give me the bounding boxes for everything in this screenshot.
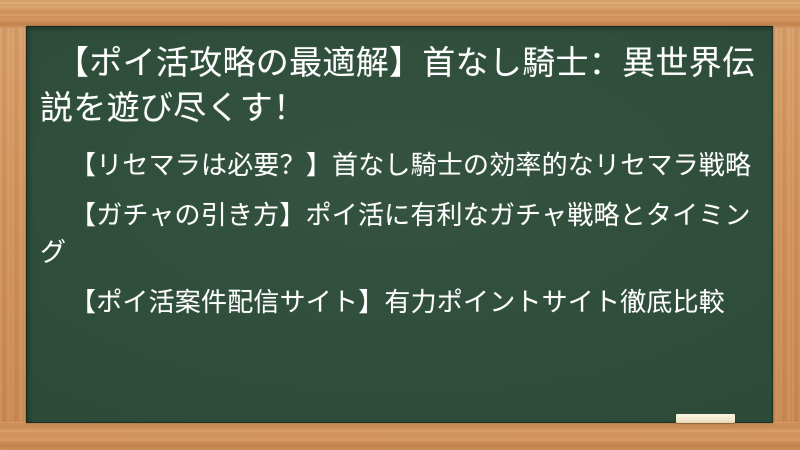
- frame-rail-top: [0, 0, 800, 28]
- board-content: 【ポイ活攻略の最適解】首なし騎士：異世界伝説を遊び尽くす！ 【リセマラは必要？】…: [26, 26, 773, 334]
- list-item[interactable]: 【ガチャの引き方】ポイ活に有利なガチャ戦略とタイミング: [40, 197, 757, 271]
- frame-rail-bottom: [0, 422, 800, 450]
- page-title: 【ポイ活攻略の最適解】首なし騎士：異世界伝説を遊び尽くす！: [40, 40, 757, 130]
- blackboard-surface: 【ポイ活攻略の最適解】首なし騎士：異世界伝説を遊び尽くす！ 【リセマラは必要？】…: [26, 26, 773, 423]
- list-item[interactable]: 【ポイ活案件配信サイト】有力ポイントサイト徹底比較: [40, 284, 757, 321]
- article-list: 【リセマラは必要？】首なし騎士の効率的なリセマラ戦略 【ガチャの引き方】ポイ活に…: [40, 147, 757, 321]
- blackboard-frame: 【ポイ活攻略の最適解】首なし騎士：異世界伝説を遊び尽くす！ 【リセマラは必要？】…: [0, 0, 800, 450]
- chalk-stick-icon: [676, 414, 735, 423]
- list-item[interactable]: 【リセマラは必要？】首なし騎士の効率的なリセマラ戦略: [40, 147, 757, 184]
